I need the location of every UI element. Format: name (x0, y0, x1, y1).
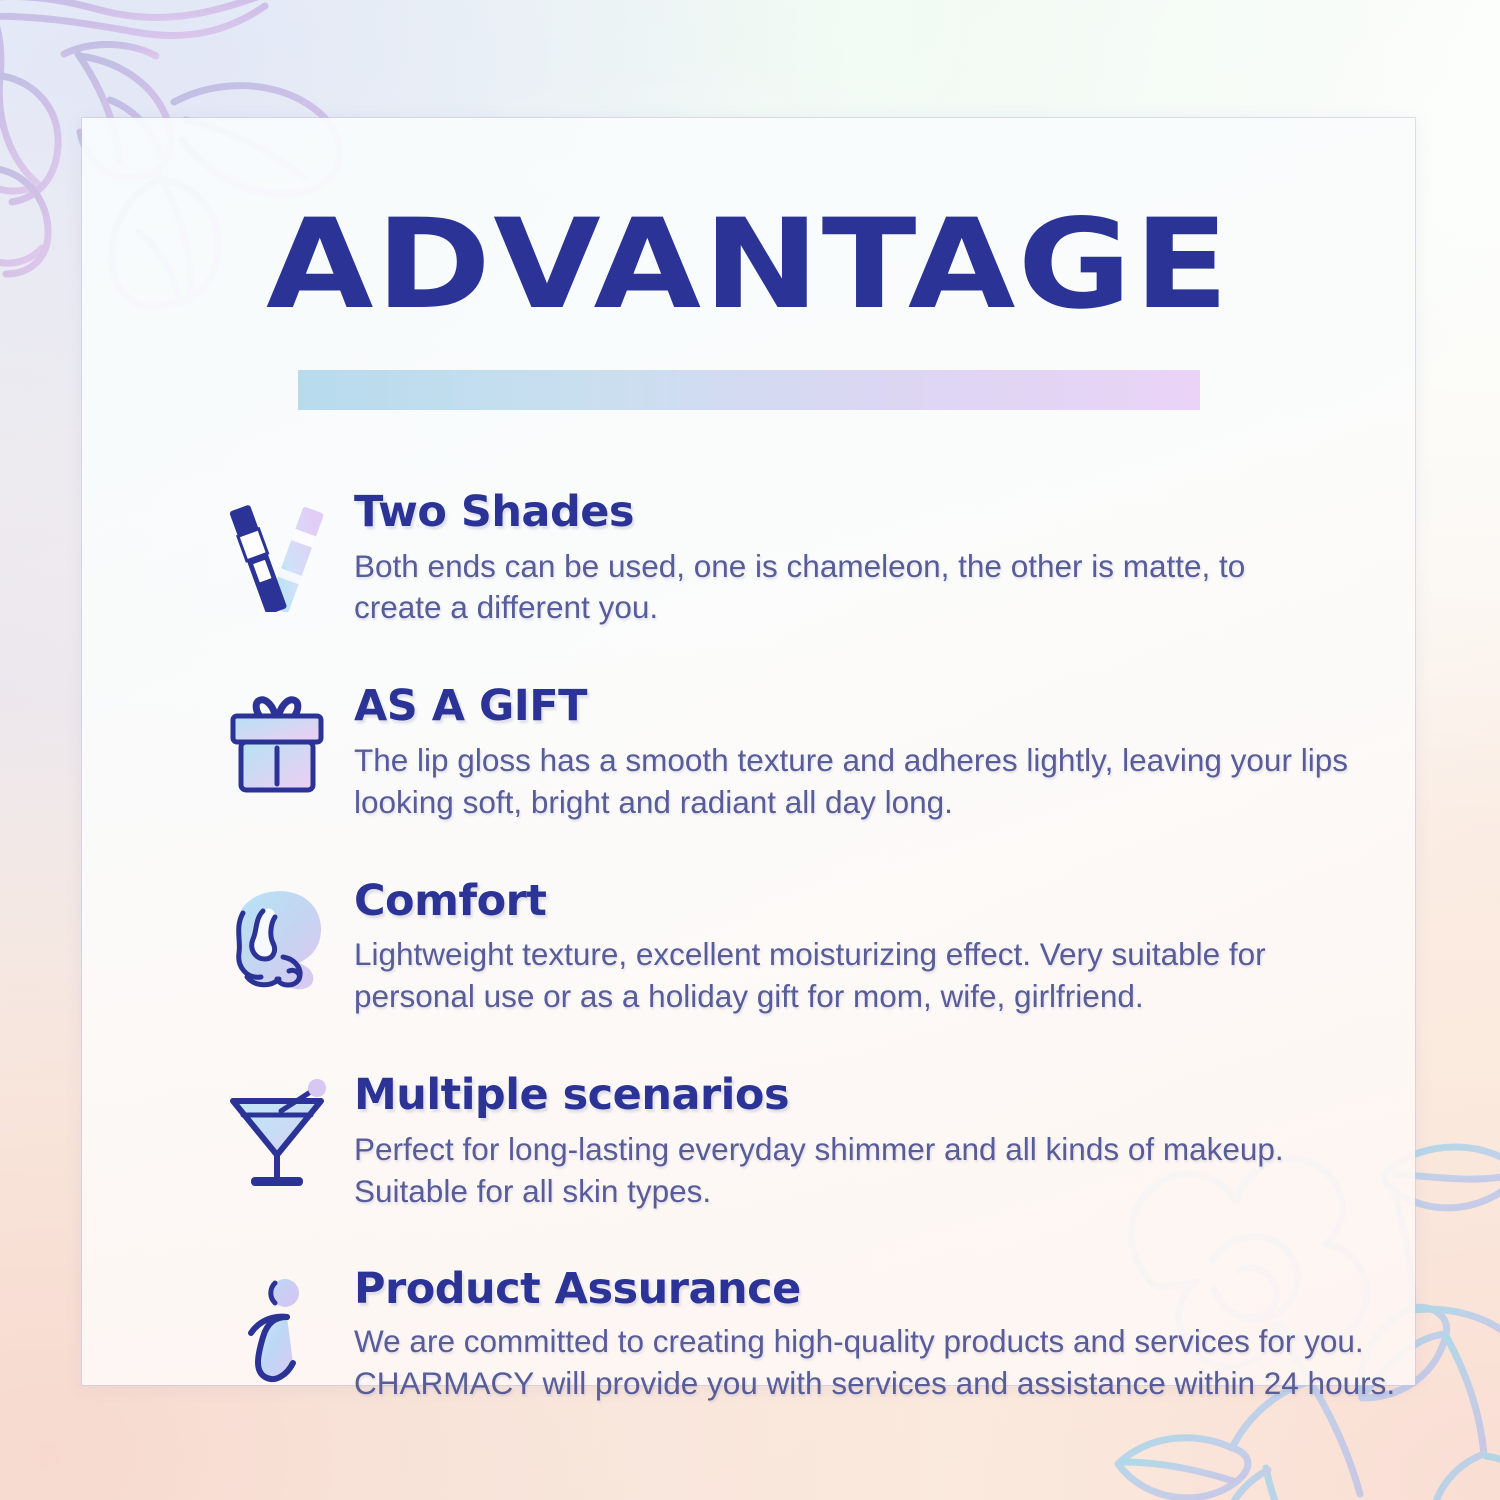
feature-text-block: AS A GIFT The lip gloss has a smooth tex… (342, 682, 1482, 823)
feature-description-line: looking soft, bright and radiant all day… (354, 782, 1482, 824)
page-title-block: ADVANTAGE (82, 203, 1415, 363)
feature-description-line: Perfect for long-lasting everyday shimme… (354, 1129, 1482, 1171)
feature-description-line: CHARMACY will provide you with services … (354, 1363, 1482, 1405)
page-title: ADVANTAGE (2, 203, 1495, 327)
gift-box-icon (212, 682, 342, 812)
feature-description: The lip gloss has a smooth texture and a… (354, 740, 1482, 824)
feature-title: Two Shades (354, 490, 1482, 536)
feature-description-line: Both ends can be used, one is chameleon,… (354, 546, 1482, 588)
woman-hair-profile-icon (212, 877, 342, 1007)
feature-title: Multiple scenarios (354, 1073, 1482, 1119)
feature-text-block: Two Shades Both ends can be used, one is… (342, 488, 1482, 629)
feature-title: Comfort (354, 879, 1482, 925)
feature-description: We are committed to creating high-qualit… (354, 1321, 1482, 1405)
title-highlight-bar (298, 370, 1200, 410)
feature-item-two-shades: Two Shades Both ends can be used, one is… (212, 488, 1482, 629)
feature-text-block: Comfort Lightweight texture, excellent m… (342, 877, 1482, 1018)
feature-title: AS A GIFT (354, 684, 1482, 730)
cocktail-glass-icon (212, 1071, 342, 1201)
feature-item-comfort: Comfort Lightweight texture, excellent m… (212, 877, 1482, 1018)
feature-description-line: The lip gloss has a smooth texture and a… (354, 740, 1482, 782)
advantage-poster: ADVANTAGE (0, 0, 1500, 1500)
feature-item-product-assurance: Product Assurance We are committed to cr… (212, 1265, 1482, 1404)
feature-text-block: Multiple scenarios Perfect for long-last… (342, 1071, 1482, 1212)
feature-item-as-a-gift: AS A GIFT The lip gloss has a smooth tex… (212, 682, 1482, 823)
crossed-lip-gloss-tubes-icon (212, 488, 342, 618)
feature-description: Perfect for long-lasting everyday shimme… (354, 1129, 1482, 1213)
feature-description-line: Lightweight texture, excellent moisturiz… (354, 934, 1482, 976)
feature-description-line: We are committed to creating high-qualit… (354, 1321, 1482, 1363)
feature-title: Product Assurance (354, 1267, 1482, 1313)
feature-description-line: Suitable for all skin types. (354, 1171, 1482, 1213)
feature-item-multiple-scenarios: Multiple scenarios Perfect for long-last… (212, 1071, 1482, 1212)
feature-list: Two Shades Both ends can be used, one is… (212, 488, 1482, 1405)
feature-description: Lightweight texture, excellent moisturiz… (354, 934, 1482, 1018)
content-card: ADVANTAGE (82, 118, 1415, 1385)
italic-info-i-icon (212, 1265, 342, 1395)
feature-description: Both ends can be used, one is chameleon,… (354, 546, 1482, 630)
feature-text-block: Product Assurance We are committed to cr… (342, 1265, 1482, 1404)
feature-description-line: create a different you. (354, 587, 1482, 629)
feature-description-line: personal use or as a holiday gift for mo… (354, 976, 1482, 1018)
